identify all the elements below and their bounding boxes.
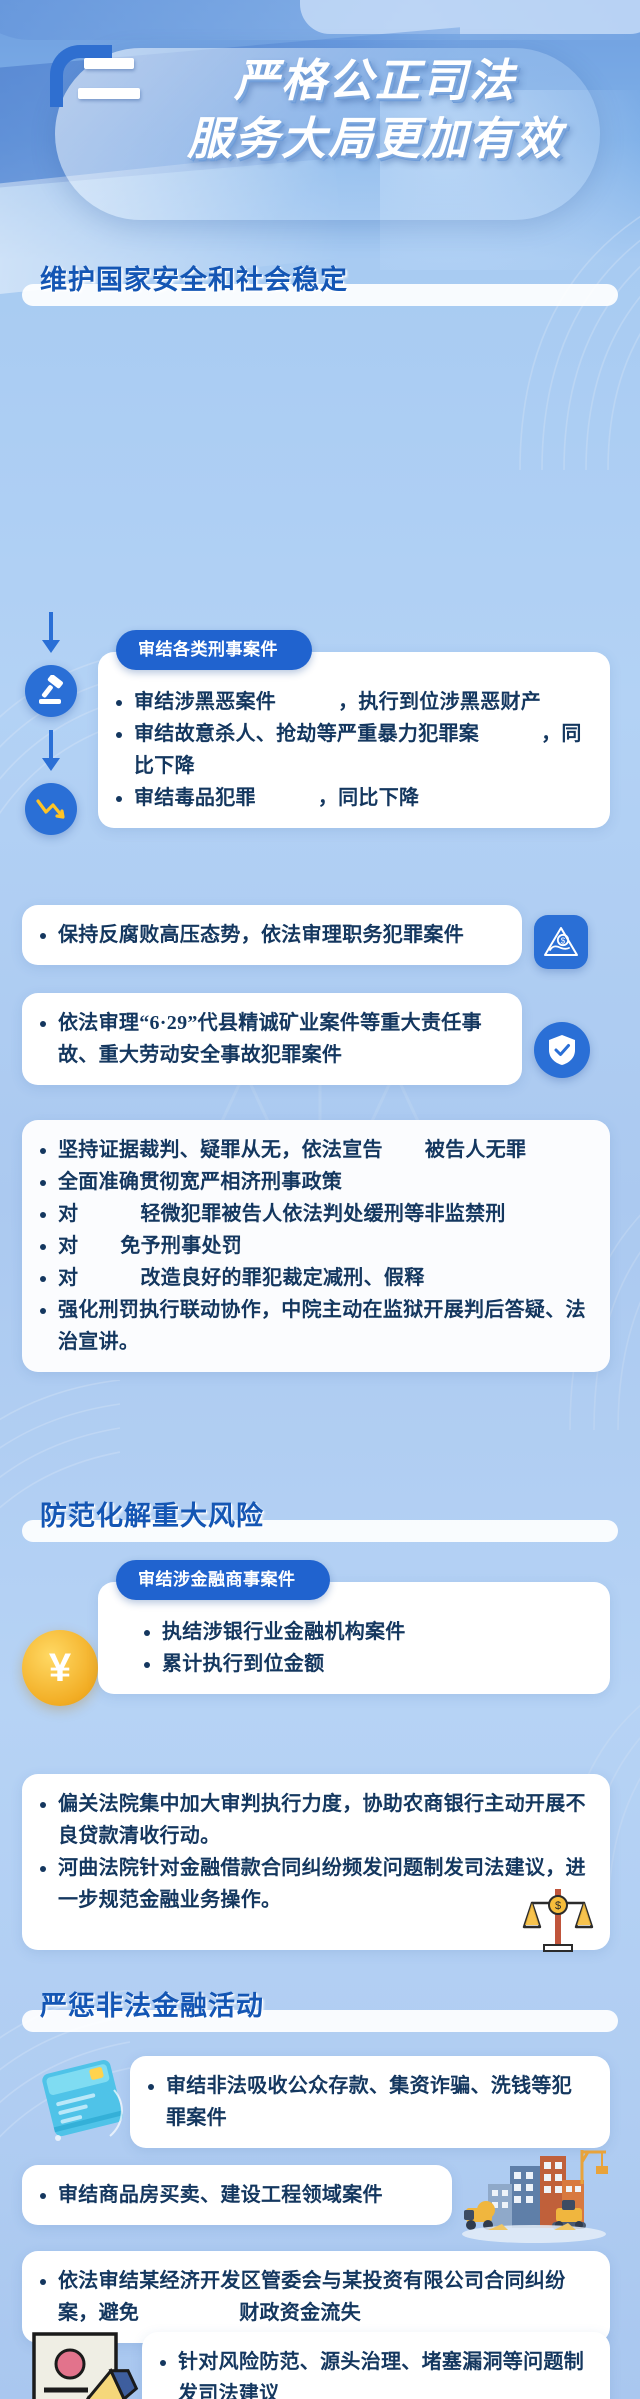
yuan-symbol: ¥: [49, 1648, 71, 1688]
mixer-truck-glyph: [464, 2201, 495, 2230]
arrow-down-icon: [40, 612, 62, 654]
bullet-text-a: 审结故意杀人、抢劫等严重暴力犯罪案: [134, 723, 479, 745]
card-pill-financial-commercial: 审结涉金融商事案件: [116, 1560, 330, 1600]
card-illegal-deposit: 审结非法吸收公众存款、集资诈骗、洗钱等犯罪案件: [130, 2056, 610, 2148]
card-criminal-cases: 审结各类刑事案件 审结涉黑恶案件，执行到位涉黑恶财产 审结故意杀人、抢劫等严重暴…: [98, 652, 610, 828]
bullet-list: 审结商品房买卖、建设工程领域案件: [38, 2179, 434, 2211]
page-header: 严格公正司法 服务大局更加有效: [0, 0, 640, 260]
page-title: 严格公正司法 服务大局更加有效: [160, 52, 590, 168]
card-judicial-advice: 针对风险防范、源头治理、堵塞漏洞等问题制发司法建议: [142, 2332, 610, 2399]
bullet-list: 保持反腐败高压态势，依法审理职务犯罪案件: [38, 919, 504, 951]
list-item: 审结毒品犯罪，同比下降: [114, 782, 592, 814]
bullet-list: 偏关法院集中加大审判执行力度，协助农商银行主动开展不良贷款清收行动。 河曲法院针…: [38, 1788, 592, 1916]
bullet-text-a: 对: [58, 1267, 78, 1289]
gavel-glyph-icon: [35, 675, 67, 707]
card-major-accidents: 依法审理“6·29”代县精诚矿业案件等重大责任事故、重大劳动安全事故犯罪案件: [22, 993, 522, 1085]
construction-icon: [458, 2146, 610, 2250]
list-item: 对轻微犯罪被告人依法判处缓刑等非监禁刑: [38, 1198, 592, 1230]
list-item: 坚持证据裁判、疑罪从无，依法宣告被告人无罪: [38, 1134, 592, 1166]
bullet-list: 针对风险防范、源头治理、堵塞漏洞等问题制发司法建议: [158, 2346, 592, 2399]
section-number-glyph: [78, 58, 140, 110]
bullet-text-a: 对: [58, 1235, 78, 1257]
list-item: 强化刑罚执行联动协作，中院主动在监狱开展判后答疑、法治宣讲。: [38, 1294, 592, 1358]
page-title-line-1: 严格公正司法: [160, 52, 590, 110]
arrow-down-icon: [40, 730, 62, 772]
bullet-text-b: 被告人无罪: [425, 1139, 527, 1161]
infographic-page: 严格公正司法 服务大局更加有效 维护国家安全和社会稳定: [0, 0, 640, 2399]
bullet-text-a: 坚持证据裁判、疑罪从无，依法宣告: [58, 1139, 383, 1161]
bullet-text-b: 财政资金流失: [239, 2302, 361, 2324]
bullet-text-a: 审结涉黑恶案件: [134, 691, 276, 713]
list-item: 审结故意杀人、抢劫等严重暴力犯罪案，同比下降: [114, 718, 592, 782]
list-item: 偏关法院集中加大审判执行力度，协助农商银行主动开展不良贷款清收行动。: [38, 1788, 592, 1852]
bullet-list: 审结涉黑恶案件，执行到位涉黑恶财产 审结故意杀人、抢劫等严重暴力犯罪案，同比下降…: [114, 686, 592, 814]
list-item: 执结涉银行业金融机构案件: [142, 1616, 592, 1648]
bullet-text-b: 免予刑事处罚: [120, 1235, 242, 1257]
bullet-text-b: ，执行到位涉黑恶财产: [338, 691, 541, 713]
bullet-text-b: 轻微犯罪被告人依法判处缓刑等非监禁刑: [140, 1203, 505, 1225]
bullet-text-a: 对: [58, 1203, 78, 1225]
bullet-text-a: 审结毒品犯罪: [134, 787, 256, 809]
bribery-warning-icon: $: [534, 915, 588, 969]
gavel-icon: [25, 665, 77, 717]
list-item: 全面准确贯彻宽严相济刑事政策: [38, 1166, 592, 1198]
list-item: 依法审理“6·29”代县精诚矿业案件等重大责任事故、重大劳动安全事故犯罪案件: [38, 1007, 504, 1071]
svg-text:$: $: [561, 937, 566, 946]
list-item: 保持反腐败高压态势，依法审理职务犯罪案件: [38, 919, 504, 951]
card-evidence-policy: 坚持证据裁判、疑罪从无，依法宣告被告人无罪 全面准确贯彻宽严相济刑事政策 对轻微…: [22, 1120, 610, 1372]
page-title-line-2: 服务大局更加有效: [160, 110, 590, 168]
list-item: 审结商品房买卖、建设工程领域案件: [38, 2179, 434, 2211]
card-body: 审结涉黑恶案件，执行到位涉黑恶财产 审结故意杀人、抢劫等严重暴力犯罪案，同比下降…: [98, 652, 610, 828]
section-heading-national-security: 维护国家安全和社会稳定: [22, 260, 618, 308]
declining-chart-glyph-icon: [34, 795, 68, 823]
card-real-estate: 审结商品房买卖、建设工程领域案件: [22, 2165, 452, 2225]
bullet-text-b: 改造良好的罪犯裁定减刑、假释: [140, 1267, 424, 1289]
bullet-list: 依法审结某经济开发区管委会与某投资有限公司合同纠纷案，避免财政资金流失: [38, 2265, 592, 2329]
section-heading-illegal-finance: 严惩非法金融活动: [0, 1986, 640, 2034]
credit-card-icon: [40, 2050, 126, 2150]
bribery-warning-glyph-icon: $: [543, 925, 579, 959]
list-item: 审结涉黑恶案件，执行到位涉黑恶财产: [114, 686, 592, 718]
bullet-list: 依法审理“6·29”代县精诚矿业案件等重大责任事故、重大劳动安全事故犯罪案件: [38, 1007, 504, 1071]
shield-check-glyph-icon: [547, 1033, 577, 1067]
section-national-security: 维护国家安全和社会稳定: [0, 260, 640, 308]
bullet-list: 执结涉银行业金融机构案件 累计执行到位金额: [142, 1616, 592, 1680]
bullet-text-b: ，同比下降: [318, 787, 420, 809]
list-item: 河曲法院针对金融借款合同纠纷频发问题制发司法建议，进一步规范金融业务操作。: [38, 1852, 592, 1916]
heading-text: 防范化解重大风险: [40, 1496, 264, 1536]
list-item: 累计执行到位金额: [142, 1648, 592, 1680]
shield-check-icon: [534, 1022, 590, 1078]
bullet-list: 审结非法吸收公众存款、集资诈骗、洗钱等犯罪案件: [146, 2070, 592, 2134]
card-pill-criminal-cases: 审结各类刑事案件: [116, 630, 312, 670]
card-anti-corruption: 保持反腐败高压态势，依法审理职务犯罪案件: [22, 905, 522, 965]
list-item: 对改造良好的罪犯裁定减刑、假释: [38, 1262, 592, 1294]
svg-text:$: $: [555, 1900, 561, 1912]
yuan-coin-icon: ¥: [22, 1630, 98, 1706]
list-item: 审结非法吸收公众存款、集资诈骗、洗钱等犯罪案件: [146, 2070, 592, 2134]
scales-coin-icon: $: [522, 1883, 594, 1955]
bullet-list: 坚持证据裁判、疑罪从无，依法宣告被告人无罪 全面准确贯彻宽严相济刑事政策 对轻微…: [38, 1134, 592, 1358]
card-financial-commercial: 审结涉金融商事案件 执结涉银行业金融机构案件 累计执行到位金额: [98, 1582, 610, 1694]
declining-chart-icon: [25, 783, 77, 835]
document-pen-icon: [28, 2328, 146, 2399]
heading-text: 维护国家安全和社会稳定: [40, 260, 348, 300]
heading-text: 严惩非法金融活动: [40, 1986, 264, 2026]
list-item: 对免予刑事处罚: [38, 1230, 592, 1262]
section-heading-major-risk: 防范化解重大风险: [0, 1496, 640, 1544]
list-item: 依法审结某经济开发区管委会与某投资有限公司合同纠纷案，避免财政资金流失: [38, 2265, 592, 2329]
list-item: 针对风险防范、源头治理、堵塞漏洞等问题制发司法建议: [158, 2346, 592, 2399]
